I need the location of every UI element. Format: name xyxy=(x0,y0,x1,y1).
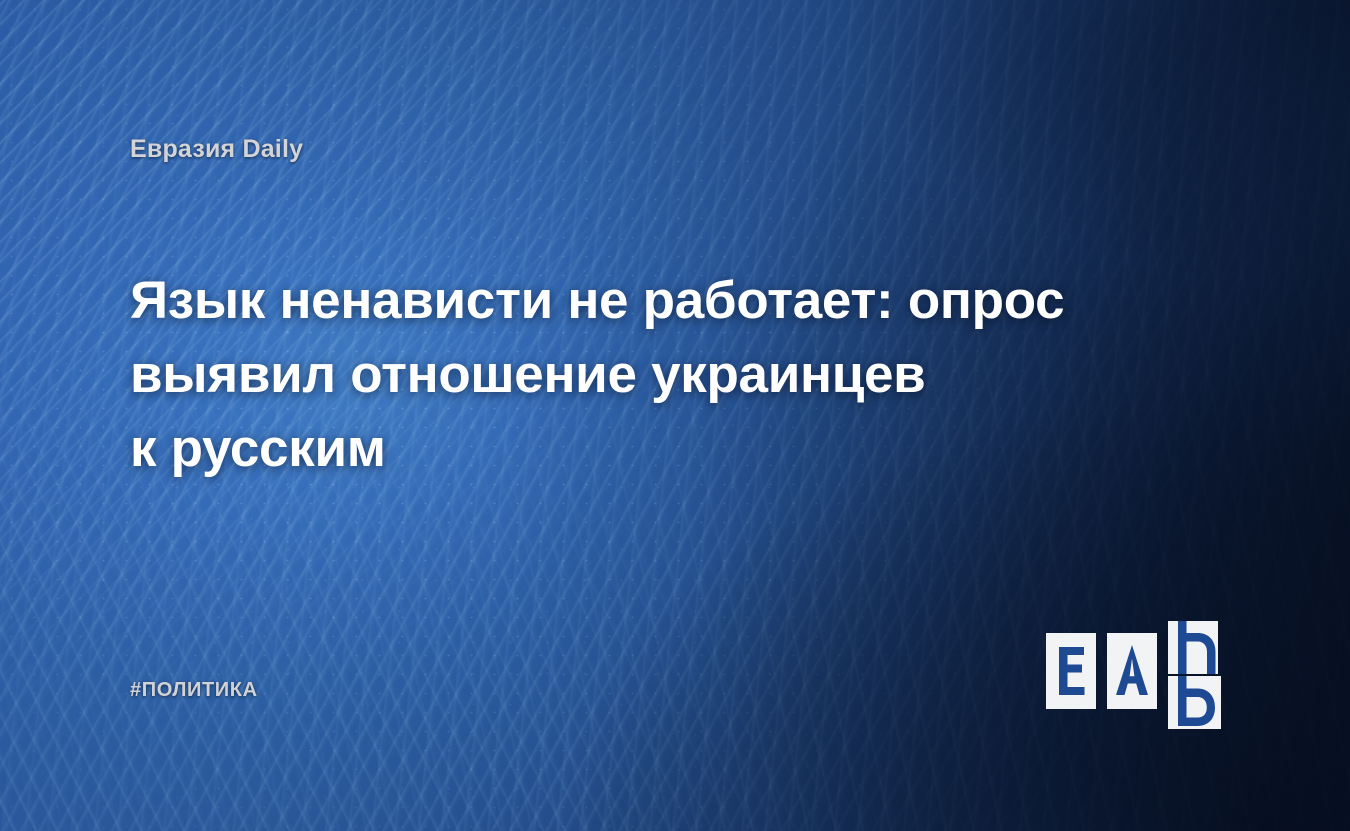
page-title: Язык ненависти не работает: опрос выявил… xyxy=(130,264,1120,486)
headline-line-3: к русским xyxy=(130,412,1120,486)
logo-tile-a xyxy=(1107,633,1157,709)
logo-tile-e xyxy=(1046,633,1096,709)
brand-title: Евразия Daily xyxy=(130,135,303,164)
headline-line-2: выявил отношение украинцев xyxy=(130,338,1120,412)
news-card: Евразия Daily Язык ненависти не работает… xyxy=(0,0,1350,831)
card-content: Евразия Daily Язык ненависти не работает… xyxy=(0,0,1350,831)
logo-tile-d-upper xyxy=(1168,621,1218,674)
headline-line-1: Язык ненависти не работает: опрос xyxy=(130,264,1120,338)
eadaily-logo[interactable] xyxy=(1046,621,1221,709)
category-hashtag[interactable]: #ПОЛИТИКА xyxy=(130,679,258,702)
logo-tile-d-lower xyxy=(1168,676,1221,729)
